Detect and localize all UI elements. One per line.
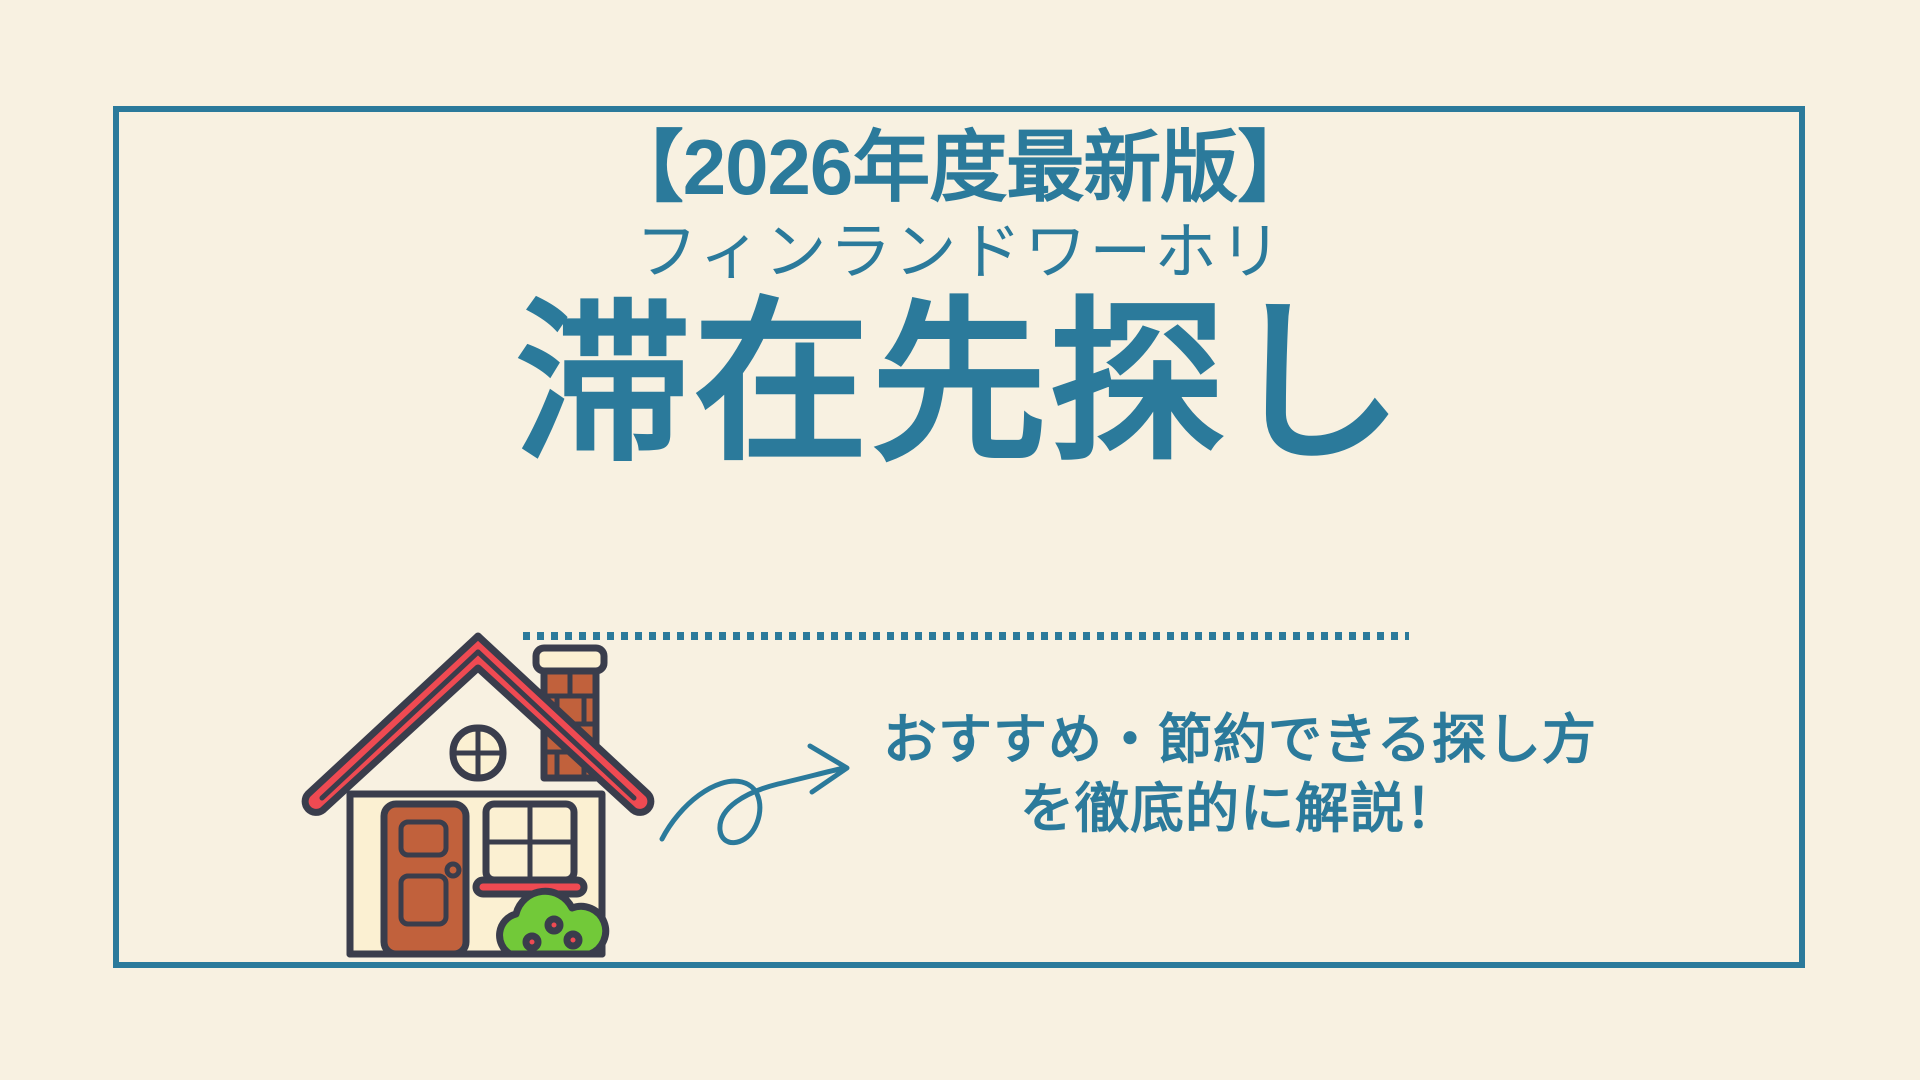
poster-canvas: 【2026年度最新版】 フィンランドワーホリ 滞在先探し (0, 0, 1920, 1080)
tagline-line-2: を徹底的に解説！ (840, 775, 1640, 844)
headline-eyebrow: 【2026年度最新版】 (0, 128, 1920, 206)
attic-window-icon (453, 728, 503, 778)
headline-block: 【2026年度最新版】 フィンランドワーホリ 滞在先探し (0, 128, 1920, 472)
main-window-icon (476, 804, 584, 894)
headline-subtitle: フィンランドワーホリ (0, 222, 1920, 284)
tagline-line-1: おすすめ・節約できる探し方 (840, 706, 1640, 775)
front-door-icon (384, 804, 466, 954)
house-illustration-svg (296, 618, 656, 968)
tagline-block: おすすめ・節約できる探し方 を徹底的に解説！ (840, 706, 1640, 844)
headline-main-title: 滞在先探し (0, 296, 1920, 472)
house-illustration (296, 618, 656, 968)
